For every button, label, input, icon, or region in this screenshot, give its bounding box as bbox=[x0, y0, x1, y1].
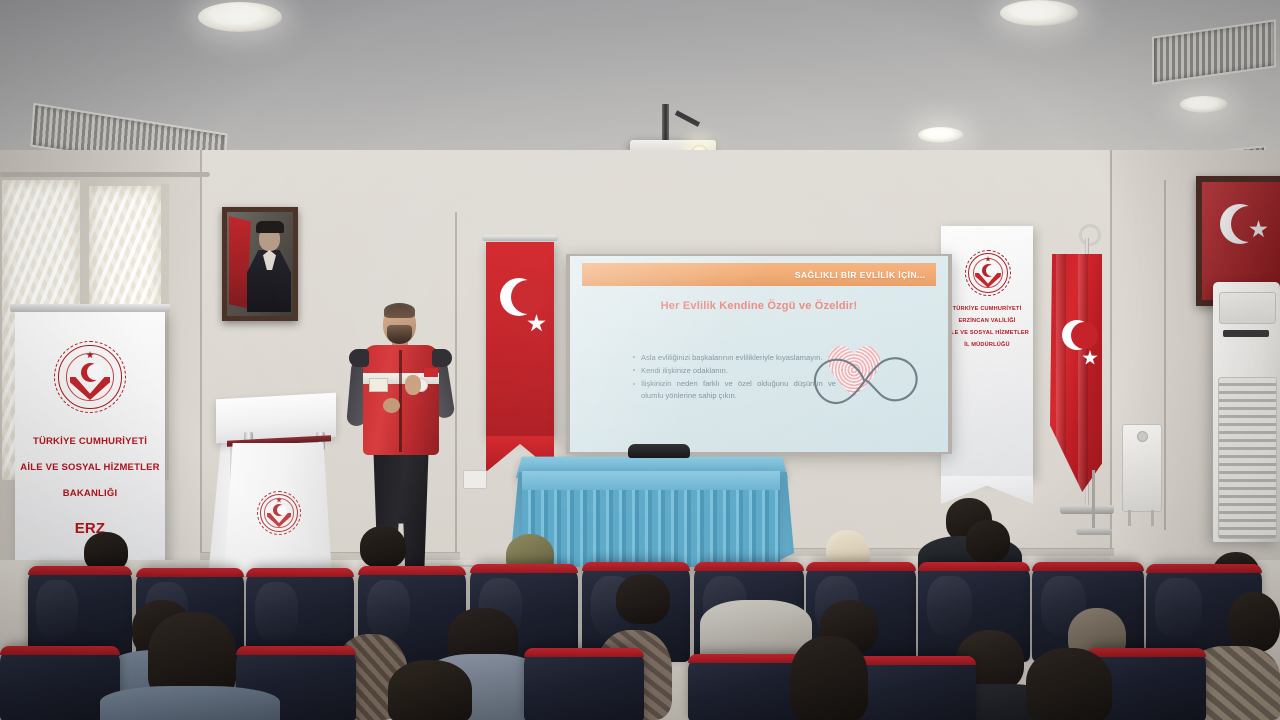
ac-top-grill bbox=[1219, 292, 1276, 324]
flagpole-base bbox=[1060, 505, 1114, 514]
seat[interactable] bbox=[524, 648, 644, 720]
slide-header-label: SAĞLIKLI BİR EVLİLİK İÇİN... bbox=[795, 270, 936, 280]
banner-right-line-1: TÜRKİYE CUMHURİYETİ bbox=[941, 306, 1033, 313]
seat[interactable] bbox=[856, 656, 976, 720]
presenter-shoulder-right bbox=[432, 349, 452, 367]
projection-screen: SAĞLIKLI BİR EVLİLİK İÇİN... Her Evlilik… bbox=[570, 256, 948, 452]
ministry-emblem bbox=[54, 341, 126, 413]
wall-corner bbox=[1110, 150, 1112, 550]
audience-head bbox=[966, 520, 1010, 562]
banner-left-line-3: BAKANLIĞI bbox=[15, 488, 165, 501]
portrait-figure-hat bbox=[256, 221, 284, 233]
wall-corner bbox=[455, 212, 457, 558]
wall-corner bbox=[200, 150, 202, 570]
banner-cap bbox=[10, 304, 170, 312]
radiator-legs bbox=[1128, 510, 1154, 526]
banner-rod bbox=[482, 235, 558, 241]
banner-right-line-3: AİLE VE SOSYAL HİZMETLER bbox=[941, 330, 1033, 337]
microphone-stand bbox=[1092, 470, 1095, 532]
speaker-lectern bbox=[224, 443, 332, 576]
ac-display-panel[interactable] bbox=[1223, 330, 1269, 337]
audience-shoulders bbox=[700, 600, 812, 660]
crescent-icon bbox=[273, 504, 285, 516]
audience-head bbox=[360, 526, 406, 568]
audience-head bbox=[1228, 592, 1280, 652]
presenter-vest-zipper bbox=[399, 350, 402, 452]
ceiling-downlight bbox=[198, 2, 282, 32]
ceiling-downlight bbox=[1000, 0, 1078, 26]
star-icon bbox=[527, 314, 546, 333]
audience-head-front bbox=[388, 660, 472, 720]
slide-graphic bbox=[806, 342, 926, 418]
conference-hall-photo: TÜRKİYE CUMHURİYETİ AİLE VE SOSYAL HİZME… bbox=[0, 0, 1280, 720]
radiator-valve-knob[interactable] bbox=[1137, 431, 1148, 442]
skirted-table bbox=[522, 471, 780, 567]
audience-shoulders bbox=[100, 686, 280, 720]
microphone-stand-base bbox=[1076, 528, 1112, 535]
banner-left-line-1: TÜRKİYE CUMHURİYETİ bbox=[15, 436, 165, 449]
rollup-banner-right: TÜRKİYE CUMHURİYETİ ERZİNCAN VALİLİĞİ Aİ… bbox=[941, 226, 1033, 478]
ataturk-portrait bbox=[222, 207, 298, 321]
wall-socket[interactable] bbox=[463, 470, 487, 489]
ceiling-downlight bbox=[1180, 96, 1228, 113]
curtain-rod bbox=[0, 172, 210, 177]
slide-bullet-list: Asla evliliğinizi başkalarının evlilikle… bbox=[592, 352, 836, 404]
presenter-flag-patch bbox=[424, 368, 438, 377]
presenter-hair bbox=[384, 303, 415, 318]
table-object bbox=[628, 444, 690, 458]
slide-title: Her Evlilik Kendine Özgü ve Özeldir! bbox=[570, 300, 948, 312]
banner-left-line-4: ERZ bbox=[15, 519, 165, 539]
wall-radiator bbox=[1122, 424, 1162, 512]
ministry-emblem bbox=[965, 250, 1011, 296]
wall-corner bbox=[1164, 180, 1166, 530]
ac-louvers bbox=[1218, 377, 1277, 539]
crescent-icon bbox=[500, 278, 538, 316]
banner-right-line-2: ERZİNCAN VALİLİĞİ bbox=[941, 318, 1033, 325]
presenter-hand-left bbox=[383, 398, 400, 413]
ministry-emblem bbox=[257, 491, 301, 535]
flagpole-finial bbox=[1079, 224, 1101, 246]
slide-header-bar: SAĞLIKLI BİR EVLİLİK İÇİN... bbox=[582, 263, 935, 286]
audience-head-front bbox=[1026, 648, 1112, 720]
crescent-icon bbox=[1062, 320, 1092, 350]
banner-right-line-4: İL MÜDÜRLÜĞÜ bbox=[941, 342, 1033, 349]
crescent-icon bbox=[81, 363, 100, 382]
presenter-beard bbox=[387, 325, 412, 344]
infinity-icon bbox=[806, 342, 926, 418]
ceiling-downlight bbox=[918, 127, 964, 143]
air-conditioner-unit[interactable] bbox=[1213, 282, 1280, 542]
audience-head bbox=[616, 574, 670, 624]
banner-left-line-2: AİLE VE SOSYAL HİZMETLER bbox=[15, 462, 165, 475]
crescent-icon bbox=[982, 264, 995, 277]
presenter-id-badge bbox=[369, 378, 388, 392]
turkish-flag-banner bbox=[486, 242, 554, 438]
presenter-hand-right bbox=[405, 375, 421, 395]
table-skirt-hem bbox=[522, 471, 780, 490]
presenter-shoulder-left bbox=[349, 349, 369, 367]
audience-head-front bbox=[790, 636, 868, 720]
